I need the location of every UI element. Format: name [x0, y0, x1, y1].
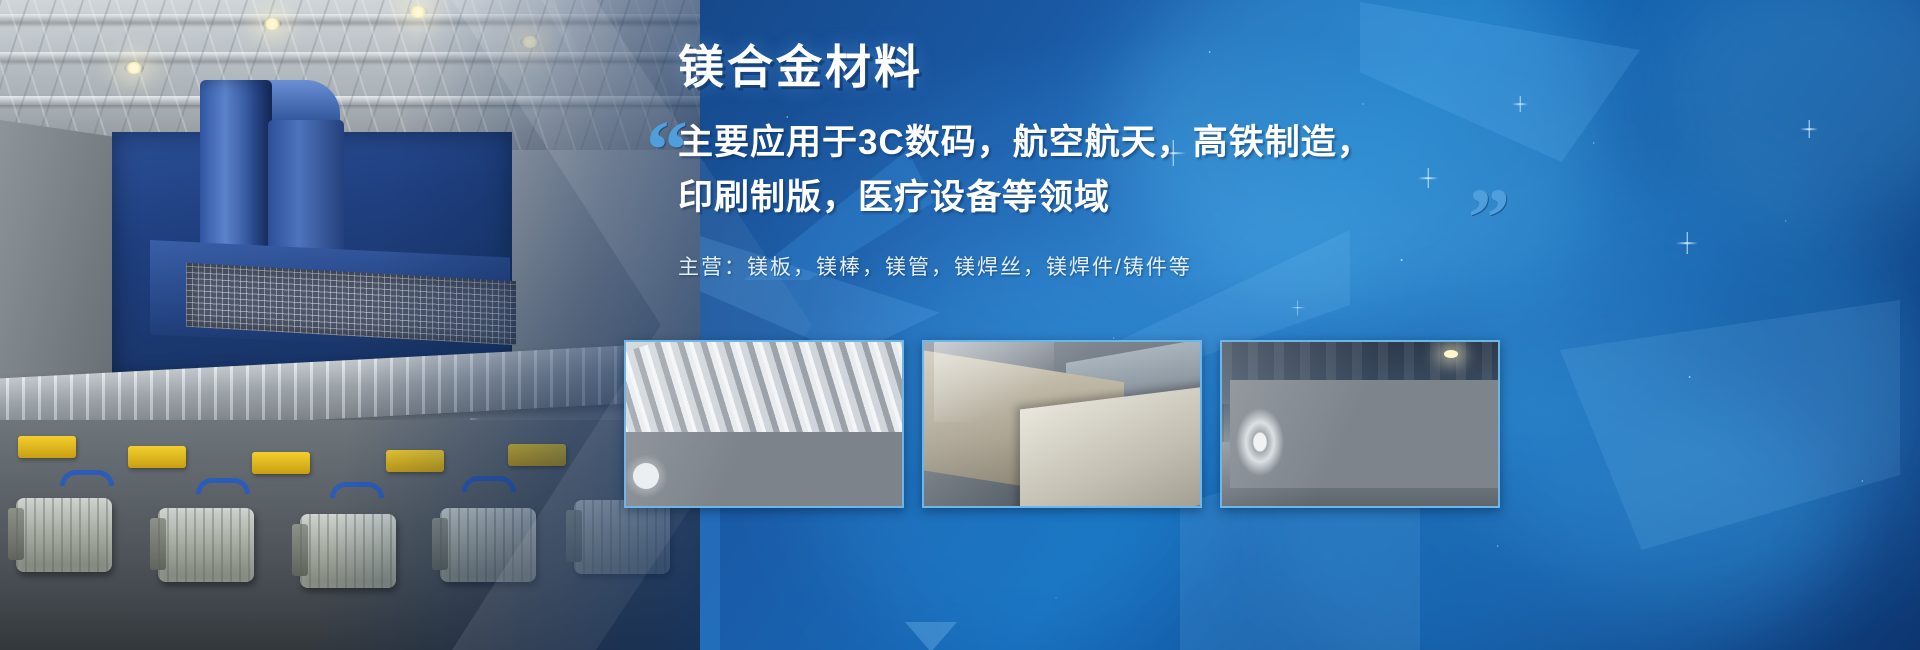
quote-close-icon: ” — [1468, 177, 1510, 261]
product-banner: 镁合金材料 “ ” 主要应用于3C数码，航空航天，高铁制造， 印刷制版，医疗设备… — [0, 0, 1920, 650]
product-thumbnail-row — [624, 340, 1500, 508]
quote-open-icon: “ — [646, 109, 688, 193]
quoted-description: “ ” 主要应用于3C数码，航空航天，高铁制造， 印刷制版，医疗设备等领域 — [678, 115, 1558, 226]
product-list-subtitle: 主营：镁板，镁棒，镁管，镁焊丝，镁焊件/铸件等 — [678, 251, 1558, 281]
thumbnail-magnesium-coils[interactable] — [1220, 340, 1500, 508]
thumbnail-magnesium-bars[interactable] — [624, 340, 904, 508]
description-line-1: 主要应用于3C数码，航空航天，高铁制造， — [678, 115, 1558, 170]
thumbnail-magnesium-plates[interactable] — [922, 340, 1202, 508]
image-sheen — [1222, 342, 1498, 506]
image-sheen — [924, 342, 1200, 506]
description-line-2: 印刷制版，医疗设备等领域 — [678, 170, 1558, 225]
banner-copy: 镁合金材料 “ ” 主要应用于3C数码，航空航天，高铁制造， 印刷制版，医疗设备… — [678, 42, 1558, 281]
image-sheen — [626, 342, 902, 506]
page-title: 镁合金材料 — [678, 42, 1558, 93]
